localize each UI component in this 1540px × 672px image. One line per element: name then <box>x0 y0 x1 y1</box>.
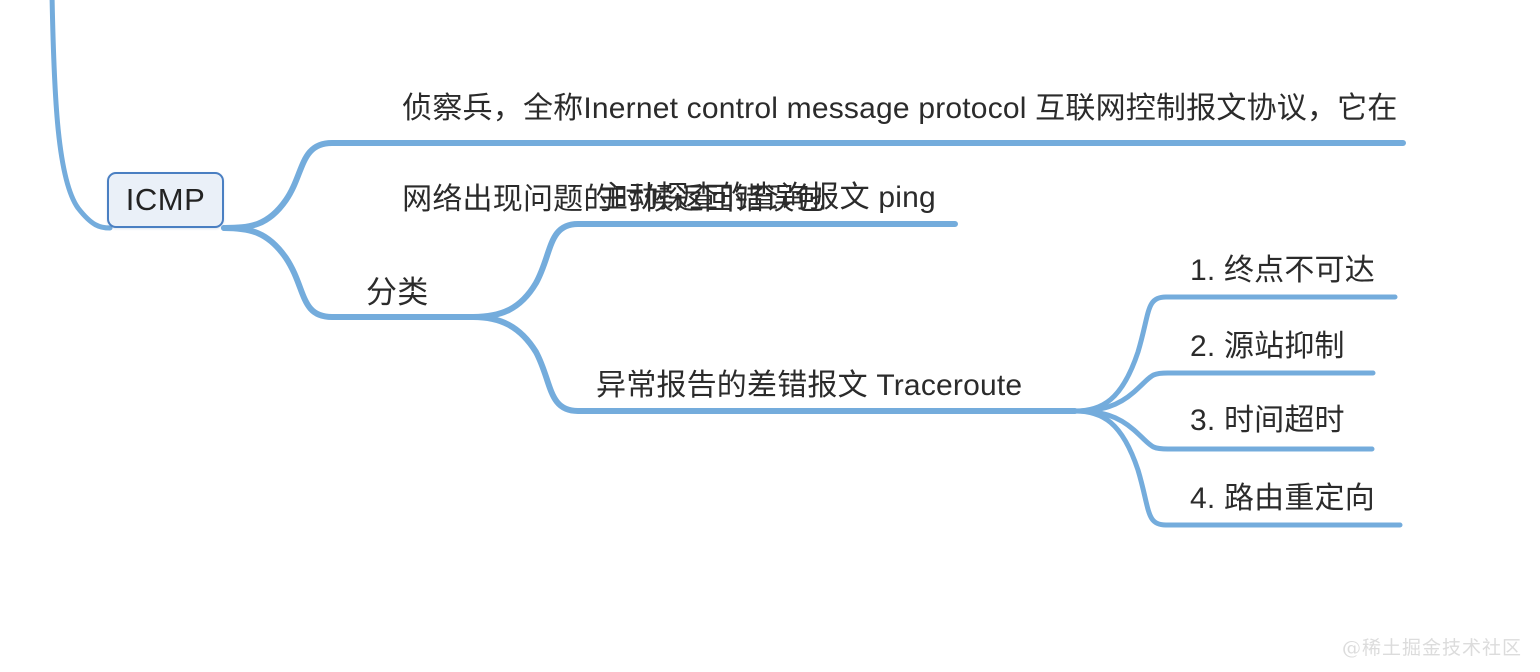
leaf-node-redirect[interactable]: 4. 路由重定向 <box>1190 476 1375 522</box>
leaf-node-source-quench[interactable]: 2. 源站抑制 <box>1190 324 1345 370</box>
edge-incoming-root <box>52 0 110 228</box>
watermark: @稀土掘金技术社区 <box>1342 633 1522 660</box>
query-message-node[interactable]: 主动探查的查询报文 ping <box>598 175 936 221</box>
root-node-label: ICMP <box>126 182 206 218</box>
leaf-node-destination-unreachable[interactable]: 1. 终点不可达 <box>1190 248 1375 294</box>
classification-node[interactable]: 分类 <box>366 269 428 316</box>
error-message-node[interactable]: 异常报告的差错报文 Traceroute <box>596 363 1022 409</box>
description-node[interactable]: 侦察兵，全称Inernet control message protocol 互… <box>368 40 1388 268</box>
leaf-node-time-exceeded[interactable]: 3. 时间超时 <box>1190 398 1345 444</box>
description-line-1: 侦察兵，全称Inernet control message protocol 互… <box>402 92 1397 125</box>
root-node-icmp[interactable]: ICMP <box>107 172 224 228</box>
mindmap-canvas: ICMP 侦察兵，全称Inernet control message proto… <box>0 0 1540 672</box>
